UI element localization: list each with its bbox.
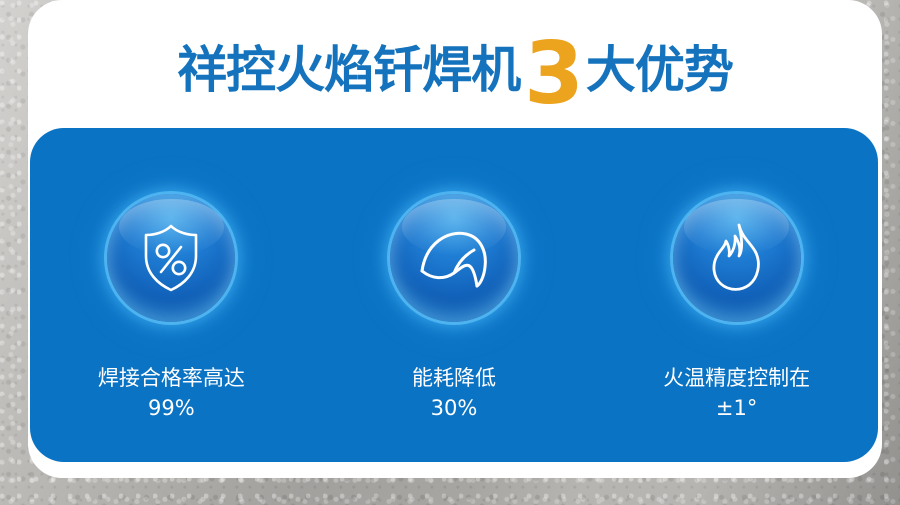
page-title: 祥控火焰钎焊机 3 大优势	[28, 26, 882, 114]
feature-item: 焊接合格率高达 99%	[46, 194, 296, 424]
feature-item: 火温精度控制在 ±1°	[612, 194, 862, 424]
icon-disc	[673, 194, 801, 322]
title-prefix: 祥控火焰钎焊机	[177, 45, 520, 95]
leaf-icon	[418, 227, 490, 289]
icon-disc	[390, 194, 518, 322]
feature-caption: 焊接合格率高达 99%	[98, 364, 245, 424]
feature-item: 能耗降低 30%	[329, 194, 579, 424]
icon-disc	[107, 194, 235, 322]
title-suffix: 大优势	[586, 45, 733, 95]
title-number-3: 3	[524, 31, 584, 117]
feature-caption: 能耗降低 30%	[412, 364, 496, 424]
poster-stage: 祥控火焰钎焊机 3 大优势 焊接合格率高达 99%	[0, 0, 900, 505]
shield-percent-icon	[140, 223, 202, 293]
flame-icon	[708, 222, 766, 294]
feature-caption: 火温精度控制在 ±1°	[663, 364, 810, 424]
feature-panel: 焊接合格率高达 99% 能耗降低 30%	[30, 128, 878, 462]
